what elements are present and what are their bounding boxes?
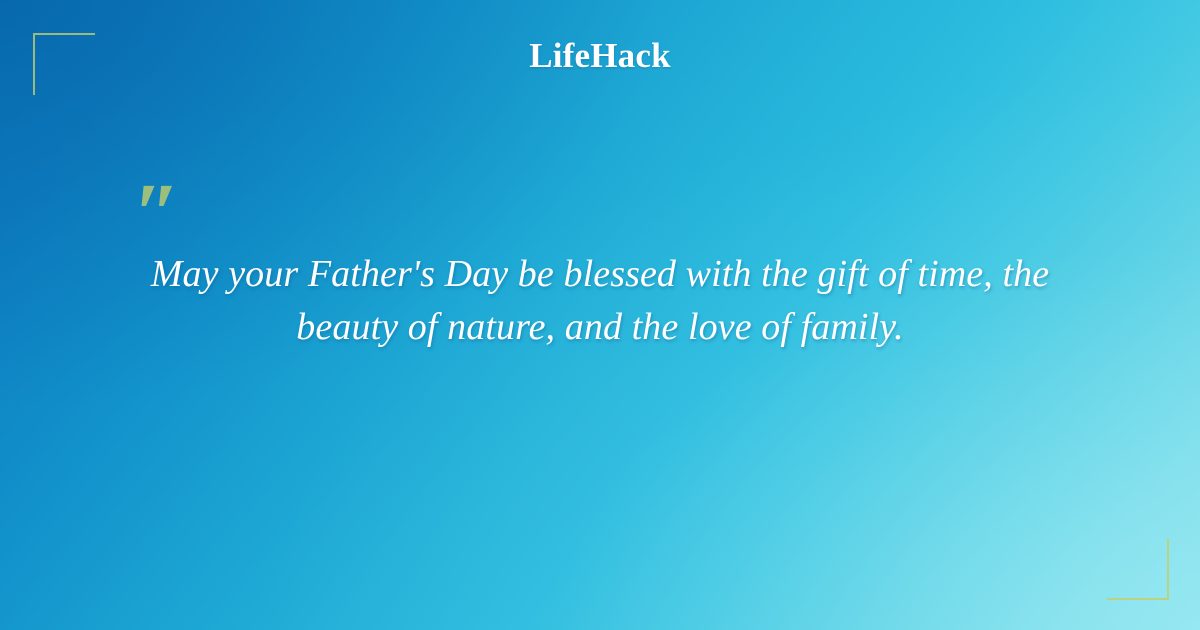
- quote-line-2: beauty of nature, and the love of family…: [102, 301, 1098, 354]
- corner-bracket-bottom-right-icon: [1107, 538, 1169, 600]
- quote-line-1: May your Father's Day be blessed with th…: [102, 248, 1098, 301]
- quote-card: LifeHack ″ May your Father's Day be bles…: [0, 0, 1200, 630]
- brand-logo: LifeHack: [0, 38, 1200, 73]
- brand-logo-text: LifeHack: [529, 38, 671, 73]
- quote-mark-icon: ″: [133, 190, 1100, 248]
- quote-block: ″ May your Father's Day be blessed with …: [100, 190, 1100, 354]
- quote-text: May your Father's Day be blessed with th…: [100, 248, 1100, 354]
